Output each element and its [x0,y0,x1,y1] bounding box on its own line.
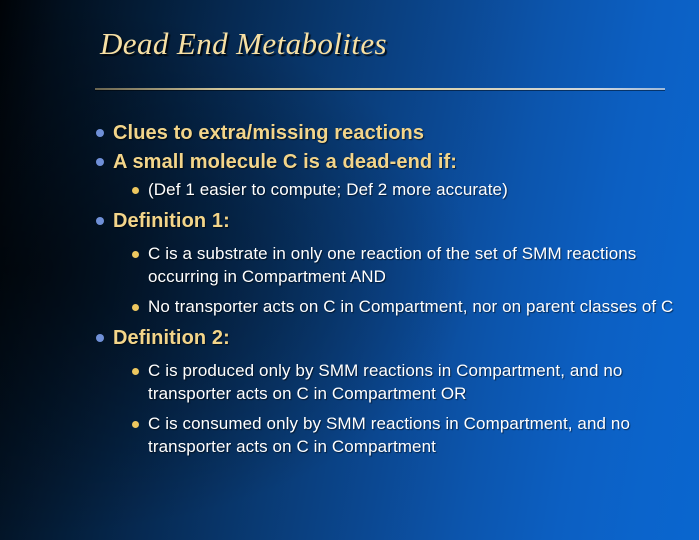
bullet-text: (Def 1 easier to compute; Def 2 more acc… [148,178,508,201]
bullet-dot-icon [132,304,139,311]
bullet-dot-icon [96,217,104,225]
bullet-text: Definition 2: [113,325,230,352]
bullet-text: Definition 1: [113,208,230,235]
bullet-text: C is produced only by SMM reactions in C… [148,359,676,405]
page-title: Dead End Metabolites [100,26,387,62]
bullet-item-level1: Definition 2: [96,325,676,352]
bullet-text: A small molecule C is a dead-end if: [113,149,457,176]
bullet-item-level1: Clues to extra/missing reactions [96,120,676,147]
bullet-item-level2: No transporter acts on C in Compartment,… [132,295,676,318]
bullet-item-level2: (Def 1 easier to compute; Def 2 more acc… [132,178,676,201]
bullet-text: C is consumed only by SMM reactions in C… [148,412,676,458]
slide-body: Clues to extra/missing reactions A small… [96,120,676,460]
bullet-item-level1: A small molecule C is a dead-end if: [96,149,676,176]
bullet-item-level2: C is produced only by SMM reactions in C… [132,359,676,405]
bullet-dot-icon [132,421,139,428]
bullet-text: Clues to extra/missing reactions [113,120,424,147]
bullet-dot-icon [132,251,139,258]
slide-canvas: Dead End Metabolites Clues to extra/miss… [0,0,699,540]
bullet-text: C is a substrate in only one reaction of… [148,242,676,288]
bullet-dot-icon [132,368,139,375]
title-divider [95,88,665,90]
bullet-item-level2: C is consumed only by SMM reactions in C… [132,412,676,458]
bullet-dot-icon [96,158,104,166]
bullet-item-level1: Definition 1: [96,208,676,235]
bullet-dot-icon [96,334,104,342]
bullet-item-level2: C is a substrate in only one reaction of… [132,242,676,288]
bullet-dot-icon [96,129,104,137]
bullet-text: No transporter acts on C in Compartment,… [148,295,673,318]
bullet-dot-icon [132,187,139,194]
